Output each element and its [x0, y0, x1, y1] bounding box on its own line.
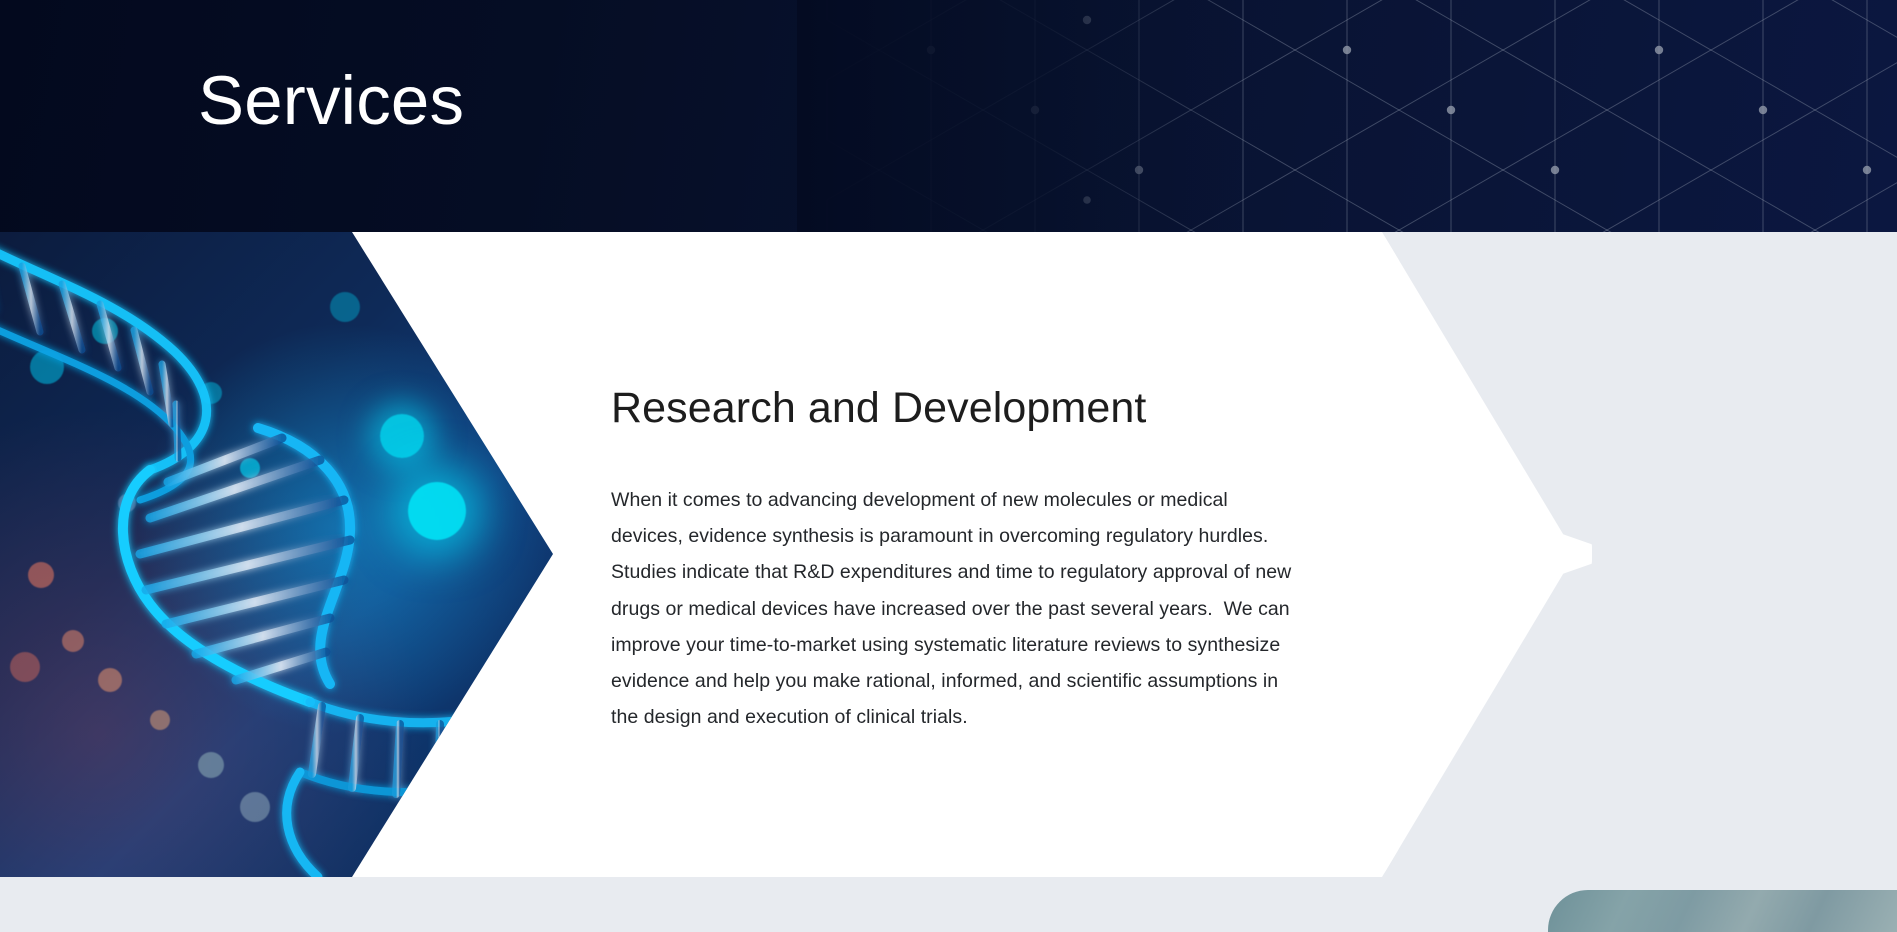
page-title: Services: [198, 66, 464, 135]
section-body-text: When it comes to advancing development o…: [611, 482, 1301, 735]
hexagon-pattern-icon: [797, 0, 1897, 232]
teal-photo-thumbnail: [1548, 890, 1897, 932]
services-section: Research and Development When it comes t…: [0, 232, 1897, 877]
hero-banner: Services: [0, 0, 1897, 232]
section-heading: Research and Development: [611, 385, 1146, 432]
